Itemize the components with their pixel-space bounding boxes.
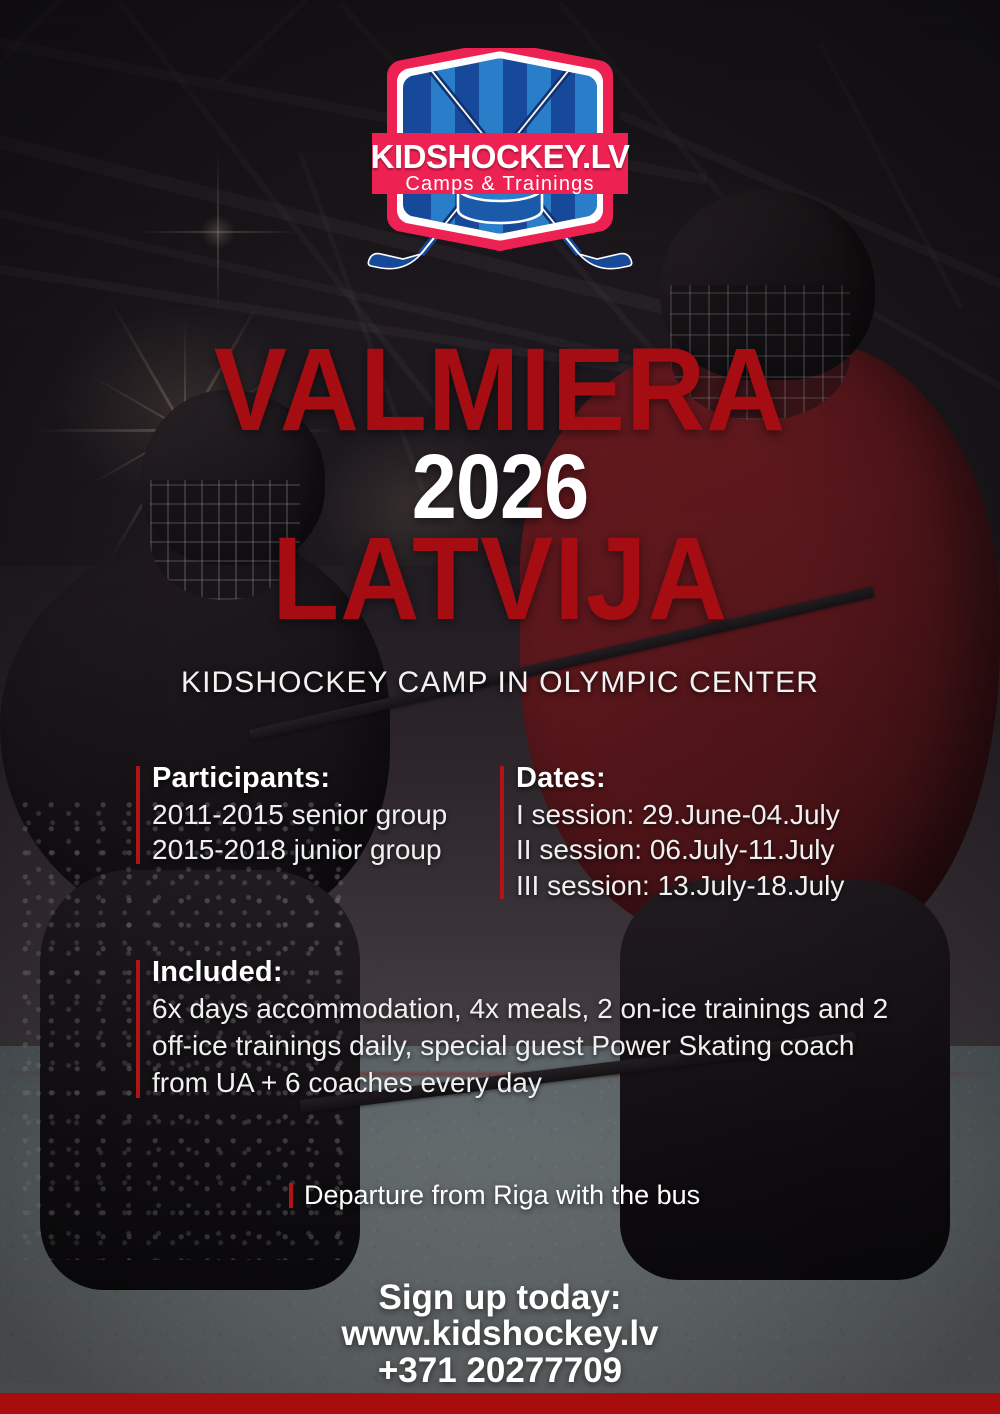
departure-note: Departure from Riga with the bus [289,1180,700,1211]
participants-heading: Participants: [152,762,476,795]
participants-line-1: 2011-2015 senior group [152,797,476,832]
participants-block: Participants: 2011-2015 senior group 201… [136,762,476,868]
dates-block: Dates: I session: 29.June-04.July II ses… [500,762,920,903]
dates-session-1: I session: 29.June-04.July [516,797,920,832]
signup-phone[interactable]: +371 20277709 [0,1353,1000,1389]
title-country: LATVIJA [35,531,965,628]
signup-block: Sign up today: www.kidshockey.lv +371 20… [0,1280,1000,1389]
poster: KIDSHOCKEY.LV Camps & Trainings VALMIERA… [0,0,1000,1414]
main-title: VALMIERA 2026 LATVIJA [0,342,1000,628]
departure-text: Departure from Riga with the bus [304,1180,700,1210]
kidshockey-logo[interactable]: KIDSHOCKEY.LV Camps & Trainings [327,48,673,280]
dates-heading: Dates: [516,762,920,795]
logo-wordmark: KIDSHOCKEY.LV [327,140,673,173]
signup-website[interactable]: www.kidshockey.lv [0,1316,1000,1352]
included-heading: Included: [152,956,916,989]
included-block: Included: 6x days accommodation, 4x meal… [136,956,916,1102]
dates-session-2: II session: 06.July-11.July [516,832,920,867]
participants-line-2: 2015-2018 junior group [152,832,476,867]
poster-content: KIDSHOCKEY.LV Camps & Trainings VALMIERA… [0,0,1000,1414]
dates-session-3: III session: 13.July-18.July [516,868,920,903]
page-subtitle: KIDSHOCKEY CAMP IN OLYMPIC CENTER [0,666,1000,700]
bottom-accent-bar [0,1393,1000,1414]
included-body: 6x days accommodation, 4x meals, 2 on-ic… [152,991,916,1102]
signup-call-to-action: Sign up today: [0,1280,1000,1316]
title-city: VALMIERA [35,342,965,439]
logo-tagline: Camps & Trainings [327,174,673,194]
